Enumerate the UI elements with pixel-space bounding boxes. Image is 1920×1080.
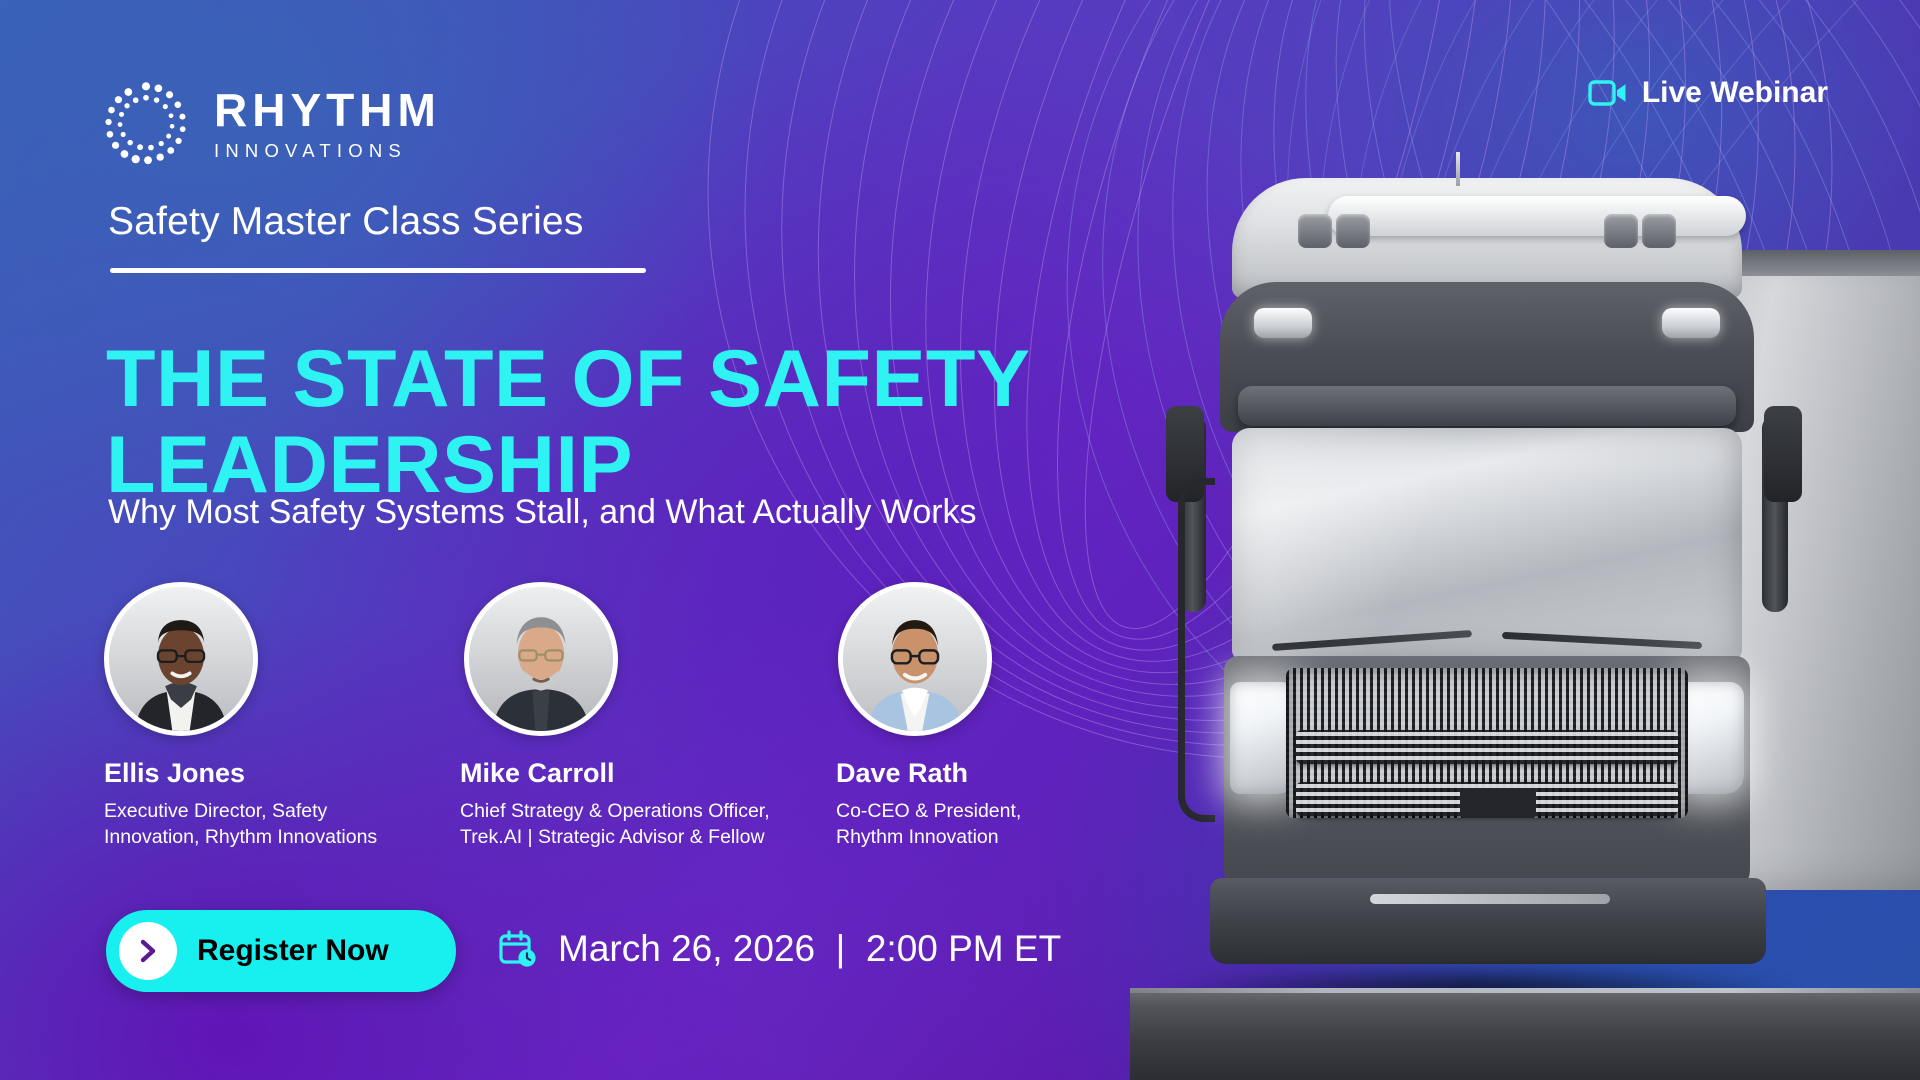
truck-bumper-strip <box>1370 894 1610 904</box>
speaker-title: Executive Director, Safety Innovation, R… <box>104 798 442 850</box>
truck-cab <box>1184 178 1784 968</box>
avatar <box>464 582 618 736</box>
truck-grille-bar <box>1296 730 1678 764</box>
brand-wordmark: RHYTHM INNOVATIONS <box>214 87 441 161</box>
truck-marker-lamp <box>1662 308 1720 338</box>
truck-bumper <box>1210 878 1766 964</box>
truck-marker-lamp <box>1254 308 1312 338</box>
avatar <box>838 582 992 736</box>
speakers-list: Ellis Jones Executive Director, Safety I… <box>104 582 1174 850</box>
video-camera-icon <box>1588 79 1628 107</box>
brand-name: RHYTHM <box>214 87 441 133</box>
truck-side-mirror <box>1764 406 1802 502</box>
portrait-ellis-jones <box>109 587 253 731</box>
truck-wiper <box>1502 632 1702 649</box>
event-datetime-label: March 26, 2026 | 2:00 PM ET <box>558 928 1061 970</box>
truck-windshield <box>1232 428 1742 660</box>
chevron-right-icon <box>119 922 177 980</box>
truck-roof-lamp <box>1298 214 1332 248</box>
speaker-card: Dave Rath Co-CEO & President, Rhythm Inn… <box>798 582 1174 850</box>
speaker-name: Mike Carroll <box>460 758 798 789</box>
hero-truck-image <box>1130 0 1920 1080</box>
truck-cab-upper <box>1220 282 1754 432</box>
title-divider-rule <box>110 268 646 273</box>
truck-front-fascia <box>1224 656 1750 892</box>
truck-roof-lamp <box>1336 214 1370 248</box>
brand-logo: RHYTHM INNOVATIONS <box>100 78 441 170</box>
truck-license-plate <box>1460 788 1536 818</box>
portrait-mike-carroll <box>469 587 613 731</box>
calendar-clock-icon <box>498 929 538 969</box>
truck-bull-bar <box>1178 478 1215 822</box>
brand-tagline: INNOVATIONS <box>214 142 441 161</box>
speaker-name: Ellis Jones <box>104 758 442 789</box>
live-webinar-badge: Live Webinar <box>1588 76 1828 110</box>
truck-roof-lamp <box>1604 214 1638 248</box>
truck-sun-visor <box>1238 386 1736 426</box>
live-webinar-label: Live Webinar <box>1642 76 1828 110</box>
register-now-label: Register Now <box>197 934 389 968</box>
truck-wiper <box>1272 630 1472 651</box>
speaker-title: Co-CEO & President, Rhythm Innovation <box>836 798 1174 850</box>
truck-roof-lamp <box>1642 214 1676 248</box>
avatar <box>104 582 258 736</box>
truck-roof-deflector <box>1328 196 1746 236</box>
rhythm-dot-ring-logo-icon <box>100 78 192 170</box>
truck-roof <box>1232 178 1742 298</box>
webinar-promo-banner: RHYTHM INNOVATIONS Live Webinar Safety M… <box>0 0 1920 1080</box>
speaker-title: Chief Strategy & Operations Officer, Tre… <box>460 798 798 850</box>
series-eyebrow: Safety Master Class Series <box>108 200 584 244</box>
page-title: THE STATE OF SAFETY LEADERSHIP <box>106 337 1166 509</box>
truck-illustration <box>1154 150 1894 1030</box>
speaker-name: Dave Rath <box>836 758 1174 789</box>
page-subtitle: Why Most Safety Systems Stall, and What … <box>108 493 977 532</box>
speaker-card: Ellis Jones Executive Director, Safety I… <box>104 582 442 850</box>
truck-antenna <box>1456 152 1460 186</box>
event-datetime: March 26, 2026 | 2:00 PM ET <box>498 928 1061 970</box>
portrait-dave-rath <box>843 587 987 731</box>
register-now-button[interactable]: Register Now <box>106 910 456 992</box>
road-surface <box>1130 988 1920 1080</box>
speaker-card: Mike Carroll Chief Strategy & Operations… <box>442 582 798 850</box>
